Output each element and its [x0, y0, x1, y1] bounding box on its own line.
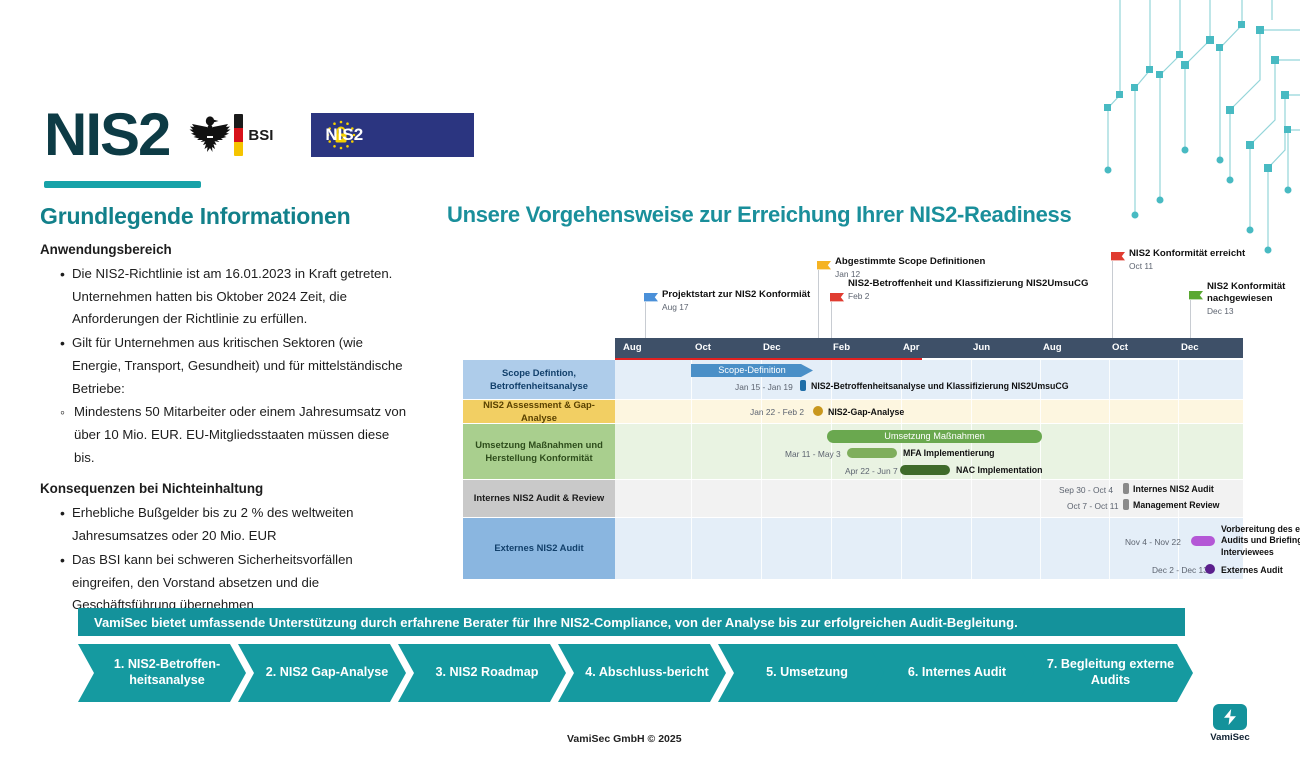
gantt-row-umsetzung: Umsetzung Maßnahmen und Herstellung Konf…	[463, 424, 1243, 480]
gantt-marker	[800, 380, 806, 391]
milestone-group: Projektstart zur NIS2 Konformiät Aug 17 …	[615, 248, 1245, 340]
flag-icon	[643, 292, 659, 305]
milestone-title: NIS2 Konformität nachgewiesen	[1207, 281, 1299, 305]
footer-copyright: VamiSec GmbH © 2025	[567, 733, 682, 745]
milestone-title: Projektstart zur NIS2 Konformiät	[662, 289, 810, 301]
gantt-row-scope-definition: Scope Defintion, Betroffenheitsanalyse S…	[463, 360, 1243, 400]
gantt-bar-label: Umsetzung Maßnahmen	[827, 430, 1042, 443]
gantt-row-track: Scope-Definition Jan 15 - Jan 19 NIS2-Be…	[615, 360, 1243, 399]
month-tick: Jun	[973, 342, 990, 353]
month-tick: Feb	[833, 342, 850, 353]
bullet-list-anwendungsbereich: Die NIS2-Richtlinie ist am 16.01.2023 in…	[40, 263, 412, 400]
gantt-marker	[847, 448, 897, 458]
gantt-task-date: Nov 4 - Nov 22	[1125, 537, 1181, 547]
gantt-bar-scope-definition: Scope-Definition	[691, 364, 813, 377]
gantt-task-date: Oct 7 - Oct 11	[1067, 501, 1119, 511]
gantt-row-track: Umsetzung Maßnahmen Mar 11 - May 3 MFA I…	[615, 424, 1243, 479]
gantt-task-label: NAC Implementation	[956, 465, 1043, 476]
process-step-1[interactable]: 1. NIS2-Betroffen-heitsanalyse	[78, 644, 246, 702]
gantt-task-date: Jan 22 - Feb 2	[750, 407, 804, 417]
gantt-row-label: Scope Defintion, Betroffenheitsanalyse	[463, 360, 615, 399]
vamisec-name: VamiSec	[1204, 732, 1256, 743]
month-tick: Apr	[903, 342, 920, 353]
support-banner: VamiSec bietet umfassende Unterstützung …	[78, 608, 1185, 636]
gantt-marker	[1205, 564, 1215, 574]
flag-icon	[829, 292, 845, 305]
gantt-marker	[813, 406, 823, 416]
list-item: Gilt für Unternehmen aus kritischen Sekt…	[60, 332, 412, 400]
milestone-date: Aug 17	[662, 302, 810, 313]
vamisec-logo: VamiSec	[1204, 704, 1256, 743]
gantt-row-label: Internes NIS2 Audit & Review	[463, 480, 615, 517]
slide: NIS2 BSI	[0, 0, 1300, 757]
gantt-task-label: MFA Implementierung	[903, 448, 995, 459]
gantt-row-track: Jan 22 - Feb 2 NIS2-Gap-Analyse	[615, 400, 1243, 423]
milestone-title: NIS2 Konformität erreicht	[1129, 248, 1245, 260]
gantt-chart: Scope Defintion, Betroffenheitsanalyse S…	[463, 360, 1243, 580]
gantt-task-label: NIS2-Betroffenheitsanalyse und Klassifiz…	[811, 381, 1069, 392]
process-step-2[interactable]: 2. NIS2 Gap-Analyse	[238, 644, 406, 702]
eu-nis2-badge: NIS2	[311, 113, 474, 157]
gantt-task-date: Dec 2 - Dec 13	[1152, 565, 1208, 575]
gantt-row-label: Externes NIS2 Audit	[463, 518, 615, 579]
flag-icon	[816, 260, 832, 273]
month-tick: Aug	[1043, 342, 1062, 353]
process-step-5[interactable]: 5. Umsetzung	[718, 644, 886, 702]
process-step-6[interactable]: 6. Internes Audit	[868, 644, 1036, 702]
gantt-task-date: Mar 11 - May 3	[785, 449, 841, 459]
milestone-title: NIS2-Betroffenheit und Klassifizierung N…	[848, 278, 1088, 290]
gantt-task-date: Jan 15 - Jan 19	[735, 382, 793, 392]
gantt-marker	[1123, 483, 1129, 494]
month-tick: Dec	[1181, 342, 1199, 353]
timeline-month-axis: Aug Oct Dec Feb Apr Jun Aug Oct Dec	[615, 338, 1243, 358]
flag-icon	[1110, 251, 1126, 264]
list-item: Mindestens 50 Mitarbeiter oder einem Jah…	[60, 401, 412, 469]
gantt-row-track: Nov 4 - Nov 22 Vorbereitung des externen…	[615, 518, 1243, 579]
gantt-row-assessment-gap: NIS2 Assessment & Gap-Analyse Jan 22 - F…	[463, 400, 1243, 424]
gantt-task-date: Apr 22 - Jun 7	[845, 466, 898, 476]
gantt-bar-label: Scope-Definition	[691, 364, 813, 377]
german-flag-bar	[234, 114, 243, 156]
list-item: Erhebliche Bußgelder bis zu 2 % des welt…	[60, 502, 412, 547]
gantt-row-label: NIS2 Assessment & Gap-Analyse	[463, 400, 615, 423]
gantt-task-label: Externes Audit	[1221, 565, 1283, 576]
gantt-marker	[1123, 499, 1129, 510]
bullet-list-konsequenzen: Erhebliche Bußgelder bis zu 2 % des welt…	[40, 502, 412, 617]
gantt-row-internes-audit: Internes NIS2 Audit & Review Sep 30 - Oc…	[463, 480, 1243, 518]
month-tick: Oct	[1112, 342, 1128, 353]
list-item: Die NIS2-Richtlinie ist am 16.01.2023 in…	[60, 263, 412, 331]
process-step-4[interactable]: 4. Abschluss-bericht	[558, 644, 726, 702]
month-tick: Oct	[695, 342, 711, 353]
flag-icon	[1188, 290, 1204, 303]
gantt-marker	[1191, 536, 1215, 546]
month-tick: Aug	[623, 342, 642, 353]
milestone-date: Dec 13	[1207, 306, 1300, 317]
gantt-row-track: Sep 30 - Oct 4 Internes NIS2 Audit Oct 7…	[615, 480, 1243, 517]
milestone-date: Oct 11	[1129, 261, 1245, 272]
gantt-marker	[900, 465, 950, 475]
process-step-7[interactable]: 7. Begleitung externe Audits	[1018, 644, 1193, 702]
bsi-label: BSI	[248, 127, 273, 144]
gantt-task-label: Internes NIS2 Audit	[1133, 484, 1214, 495]
support-banner-text: VamiSec bietet umfassende Unterstützung …	[94, 615, 1018, 630]
federal-eagle-icon	[189, 112, 231, 158]
gantt-task-label: Management Review	[1133, 500, 1220, 511]
milestone-date: Feb 2	[848, 291, 1088, 302]
gantt-task-label: NIS2-Gap-Analyse	[828, 407, 904, 418]
right-heading: Unsere Vorgehensweise zur Erreichung Ihr…	[447, 202, 1071, 228]
list-item: Das BSI kann bei schweren Sicherheitsvor…	[60, 549, 412, 617]
vamisec-mark-icon	[1213, 704, 1247, 730]
process-step-3[interactable]: 3. NIS2 Roadmap	[398, 644, 566, 702]
logo-row: NIS2 BSI	[44, 104, 474, 166]
gantt-task-date: Sep 30 - Oct 4	[1059, 485, 1113, 495]
nis2-wordmark: NIS2	[44, 105, 169, 165]
process-steps: 1. NIS2-Betroffen-heitsanalyse 2. NIS2 G…	[78, 644, 1188, 702]
eu-badge-label: NIS2	[325, 124, 363, 146]
gantt-task-label: Vorbereitung des externen Audits und Bri…	[1221, 524, 1300, 558]
left-heading: Grundlegende Informationen	[40, 203, 350, 230]
gantt-row-externes-audit: Externes NIS2 Audit Nov 4 - Nov 22 Vorbe…	[463, 518, 1243, 580]
section-heading-konsequenzen: Konsequenzen bei Nichteinhaltung	[40, 477, 412, 500]
month-tick: Dec	[763, 342, 781, 353]
section-heading-anwendungsbereich: Anwendungsbereich	[40, 238, 412, 261]
gantt-row-label: Umsetzung Maßnahmen und Herstellung Konf…	[463, 424, 615, 479]
left-body: Anwendungsbereich Die NIS2-Richtlinie is…	[40, 238, 412, 618]
teal-divider	[44, 181, 201, 188]
milestone-title: Abgestimmte Scope Definitionen	[835, 256, 985, 268]
gantt-bar-umsetzung-massnahmen: Umsetzung Maßnahmen	[827, 430, 1042, 443]
bsi-logo: BSI	[189, 112, 273, 158]
sub-bullet-list: Mindestens 50 Mitarbeiter oder einem Jah…	[40, 401, 412, 469]
